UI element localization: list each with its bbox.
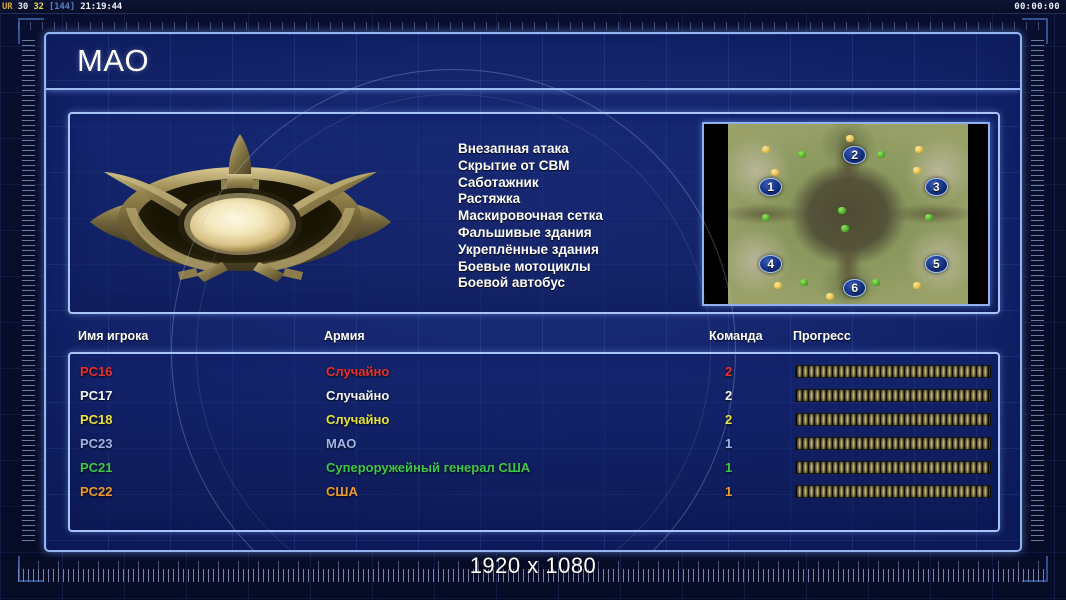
player-name: PC23 [80,432,113,456]
table-row[interactable]: PC18 Случайно 2 [70,408,998,432]
faction-info-box: Внезапная атака Скрытие от СВМ Саботажни… [68,112,1000,314]
column-header-progress: Прогресс [793,329,851,343]
status-clock: 21:19:44 [80,2,122,12]
status-bar-left: UR 30 32 [144] 21:19:44 [2,0,122,14]
column-header-team: Команда [709,329,763,343]
map-resource [762,146,770,153]
table-row[interactable]: PC16 Случайно 2 [70,360,998,384]
player-name: PC22 [80,480,113,504]
player-army: MAO [326,432,356,456]
map-start-position-3: 3 [925,178,948,196]
match-timer: 00:00:00 [1014,0,1060,14]
ability-item: Скрытие от СВМ [458,158,718,175]
table-row[interactable]: PC17 Случайно 2 [70,384,998,408]
player-team: 2 [725,360,732,384]
ability-item: Фальшивые здания [458,225,718,242]
player-team: 1 [725,456,732,480]
table-row[interactable]: PC21 Супероружейный генерал США 1 [70,456,998,480]
map-start-label: 3 [933,180,940,194]
status-bracket: [144] [49,2,75,12]
map-resource [877,151,885,158]
map-start-label: 6 [851,281,858,295]
ruler-left [22,40,35,545]
column-header-army: Армия [324,329,365,343]
map-resource [800,279,808,286]
map-resource [913,167,921,174]
ruler-top [18,22,1048,30]
player-army: Случайно [326,408,389,432]
ability-item: Саботажник [458,175,718,192]
ruler-right [1031,40,1044,545]
player-name: PC18 [80,408,113,432]
player-army: Случайно [326,360,389,384]
player-progress-bar [795,389,991,402]
player-army: США [326,480,358,504]
map-resource [872,279,880,286]
map-image: 1 2 3 4 5 6 [728,124,968,304]
player-table: PC16 Случайно 2 PC17 Случайно 2 PC18 Слу… [68,352,1000,532]
screen-root: UR 30 32 [144] 21:19:44 00:00:00 MAO [0,0,1066,600]
map-start-label: 4 [767,257,774,271]
map-start-position-6: 6 [843,279,866,297]
map-resource [915,146,923,153]
map-resource [771,169,779,176]
player-team: 2 [725,384,732,408]
player-progress-bar [795,461,991,474]
status-bar: UR 30 32 [144] 21:19:44 00:00:00 [0,0,1066,14]
map-start-label: 5 [933,257,940,271]
map-resource [838,207,846,214]
ability-item: Боевые мотоциклы [458,259,718,276]
map-resource [798,151,806,158]
page-title: MAO [77,43,149,79]
map-resource [913,282,921,289]
player-progress-bar [795,437,991,450]
player-progress-bar [795,413,991,426]
player-name: PC21 [80,456,113,480]
player-progress-bar [795,485,991,498]
corner-bracket-tr [1022,18,1048,44]
column-header-name: Имя игрока [78,329,148,343]
player-army: Супероружейный генерал США [326,456,530,480]
player-name: PC16 [80,360,113,384]
status-tag: UR [2,2,12,12]
title-bar: MAO [46,34,1020,90]
table-row[interactable]: PC23 MAO 1 [70,432,998,456]
map-preview[interactable]: 1 2 3 4 5 6 [702,122,990,306]
map-resource [925,214,933,221]
player-progress-bar [795,365,991,378]
map-resource [846,135,854,142]
player-name: PC17 [80,384,113,408]
ability-item: Маскировочная сетка [458,208,718,225]
map-start-label: 1 [767,180,774,194]
player-team: 2 [725,408,732,432]
gla-emblem-icon [78,122,403,306]
map-resource [841,225,849,232]
ability-item: Внезапная атака [458,141,718,158]
map-start-label: 2 [851,148,858,162]
resolution-caption: 1920 x 1080 [0,553,1066,579]
map-start-position-2: 2 [843,146,866,164]
player-team: 1 [725,432,732,456]
player-army: Случайно [326,384,389,408]
map-resource [762,214,770,221]
main-panel: MAO [44,32,1022,552]
player-table-header: Имя игрока Армия Команда Прогресс [68,329,1000,351]
player-team: 1 [725,480,732,504]
faction-ability-list: Внезапная атака Скрытие от СВМ Саботажни… [458,141,718,292]
ability-item: Боевой автобус [458,275,718,292]
faction-emblem [78,122,403,306]
status-value-2: 32 [33,2,43,12]
map-resource [774,282,782,289]
table-row[interactable]: PC22 США 1 [70,480,998,504]
corner-bracket-tl [18,18,44,44]
ability-item: Укреплённые здания [458,242,718,259]
status-value-1: 30 [18,2,28,12]
ability-item: Растяжка [458,191,718,208]
